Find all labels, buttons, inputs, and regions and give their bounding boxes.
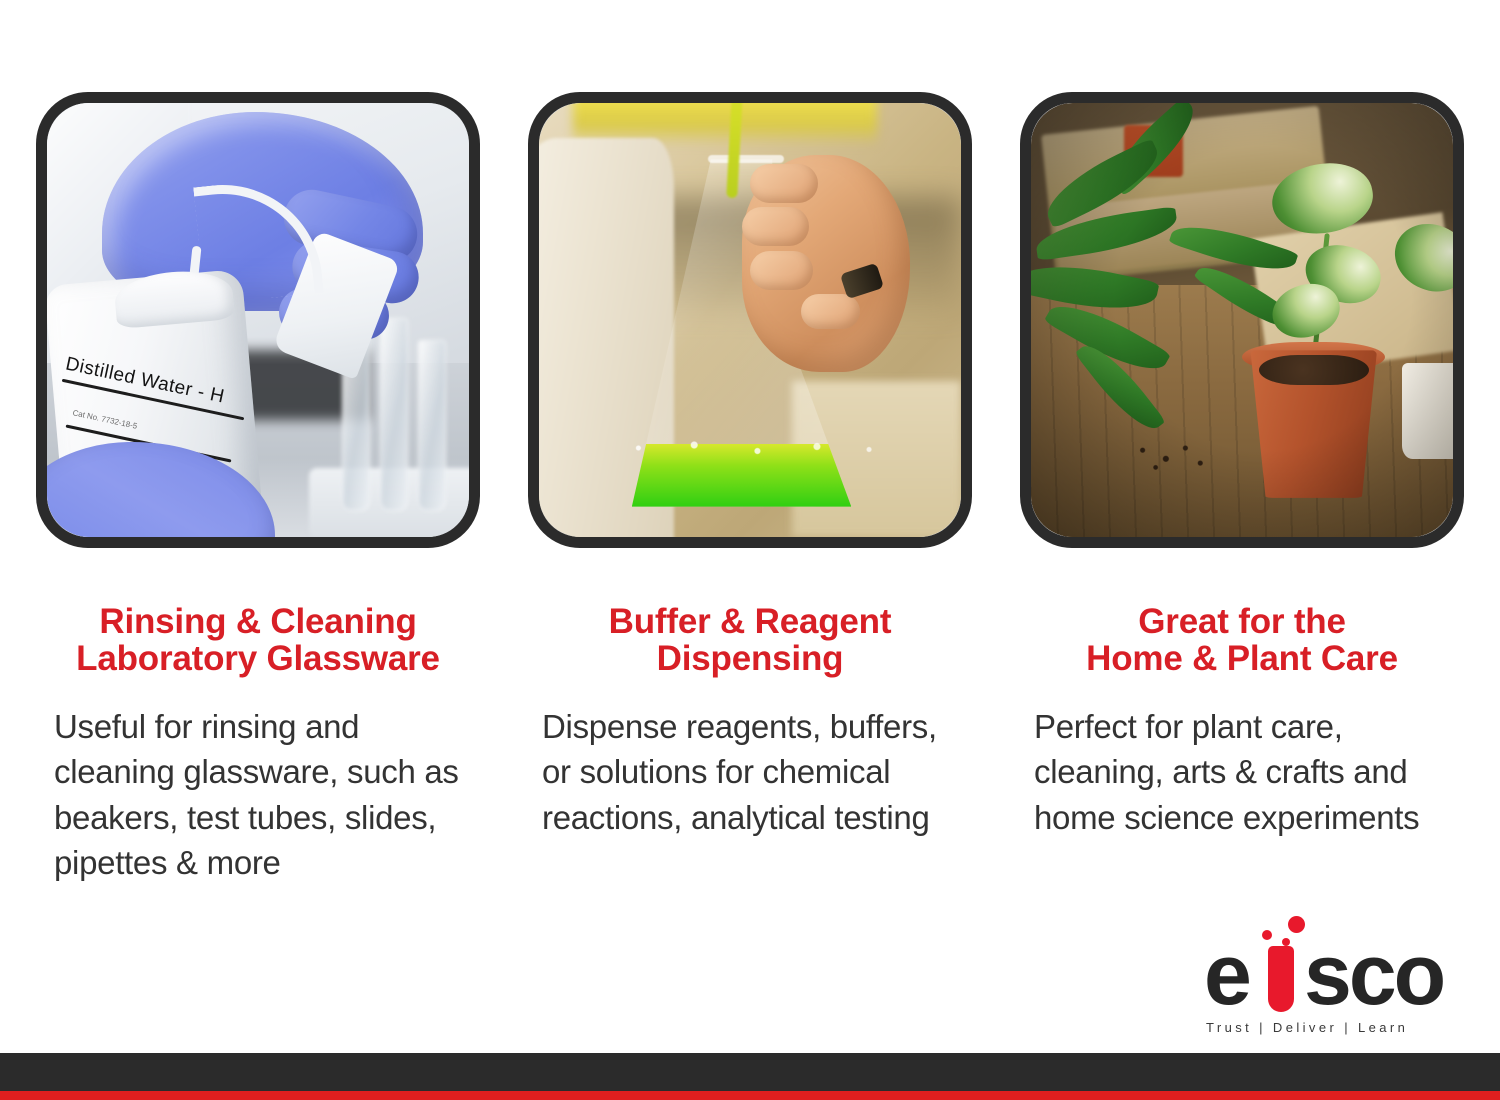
- feature-image-card-1: Distilled Water - H Cat No. 7732-18-5: [36, 92, 480, 548]
- footer-bar-red: [0, 1091, 1500, 1100]
- test-tube-icon: [1268, 946, 1294, 1012]
- feature-heading-2: Buffer & Reagent Dispensing: [609, 604, 892, 678]
- bubble-icon-small: [1282, 938, 1290, 946]
- feature-body-2: Dispense reagents, buffers, or solutions…: [528, 704, 972, 841]
- feature-image-card-3: [1020, 92, 1464, 548]
- feature-image-card-2: [528, 92, 972, 548]
- photo-flask-green-liquid: [539, 103, 961, 537]
- bubble-icon-medium: [1262, 930, 1272, 940]
- feature-column-buffer-reagent: Buffer & Reagent Dispensing Dispense rea…: [528, 92, 972, 840]
- feature-body-1: Useful for rinsing and cleaning glasswar…: [36, 704, 480, 886]
- eisco-logo: e sco Trust | Deliver | Learn: [1196, 908, 1436, 1032]
- logo-letter-e: e: [1204, 932, 1249, 1018]
- feature-column-home-plant-care: Great for the Home & Plant Care Perfect …: [1020, 92, 1464, 840]
- feature-body-3: Perfect for plant care, cleaning, arts &…: [1020, 704, 1464, 841]
- photo-potted-plant: [1031, 103, 1453, 537]
- feature-column-rinsing-cleaning: Distilled Water - H Cat No. 7732-18-5 Ri…: [36, 92, 480, 886]
- feature-heading-1: Rinsing & Cleaning Laboratory Glassware: [76, 604, 440, 678]
- logo-tagline: Trust | Deliver | Learn: [1206, 1020, 1408, 1035]
- footer-bar-dark: [0, 1053, 1500, 1091]
- logo-letters-sco: sco: [1304, 932, 1443, 1018]
- feature-columns: Distilled Water - H Cat No. 7732-18-5 Ri…: [36, 92, 1464, 886]
- bubble-icon-large: [1288, 916, 1305, 933]
- feature-heading-3: Great for the Home & Plant Care: [1086, 604, 1398, 678]
- photo-distilled-water-bottle: Distilled Water - H Cat No. 7732-18-5: [47, 103, 469, 537]
